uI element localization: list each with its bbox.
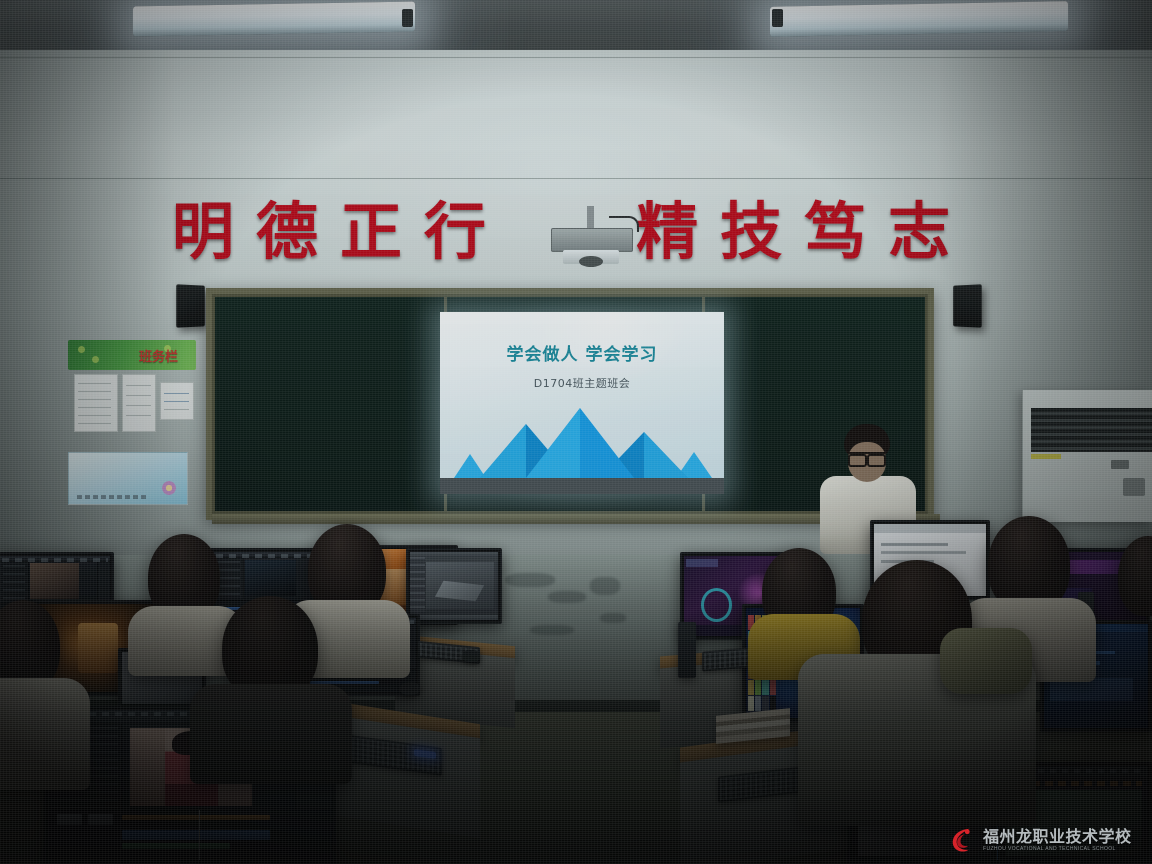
slide-mountain-graphic [440, 402, 724, 478]
wall-speaker-right-icon [953, 284, 982, 327]
bulletin-header: 班务栏 [68, 340, 196, 370]
ceiling-projector-icon [551, 222, 633, 258]
aircon-vent [1031, 408, 1152, 452]
mouse[interactable] [462, 650, 480, 662]
projector-lens [563, 250, 619, 264]
aircon-badge [1123, 478, 1145, 496]
decor-dot [78, 346, 85, 353]
wall-speaker-left-icon [176, 284, 205, 327]
bulletin-paper [122, 374, 156, 432]
projected-slide: 学会做人 学会学习 D1704班主题班会 [440, 312, 724, 494]
classroom-photo: 明 德 正 行 精 技 笃 志 班务栏 [0, 0, 1152, 864]
camo-sleeve [940, 628, 1032, 694]
slide-title: 学会做人 学会学习 [440, 340, 724, 365]
slide-foreground-band [440, 478, 724, 494]
wall-seam-upper [0, 57, 1152, 58]
projector-body [551, 228, 633, 252]
aircon-label-strip [1031, 454, 1061, 459]
fluorescent-tube-right-icon [770, 1, 1068, 37]
tube-end-cap-right [772, 9, 783, 27]
student-shirt [0, 678, 90, 790]
bulletin-board: 班务栏 [68, 340, 196, 505]
aircon-logo [1111, 460, 1129, 469]
monitor-screen [410, 552, 498, 620]
bulletin-paper-small [160, 382, 194, 420]
wall-seam-mid [0, 178, 1152, 179]
fluorescent-tube-left-icon [133, 2, 415, 37]
tube-end-cap-left [402, 9, 413, 27]
pc-tower [678, 622, 696, 678]
glasses-icon [848, 452, 886, 461]
monitor[interactable] [406, 548, 502, 624]
mouse[interactable] [400, 682, 420, 695]
bulletin-poster [68, 452, 188, 505]
blackboard-panel [212, 294, 448, 514]
poster-caption [77, 495, 149, 499]
decor-dot [92, 356, 99, 363]
bulletin-header-label: 班务栏 [139, 346, 178, 365]
student-shirt [190, 684, 352, 784]
bulletin-paper [74, 374, 118, 432]
projector-mount-arm [587, 206, 594, 228]
wall-air-conditioner-icon [1022, 390, 1152, 522]
flower-icon [159, 478, 179, 498]
slide-subtitle: D1704班主题班会 [440, 375, 724, 391]
